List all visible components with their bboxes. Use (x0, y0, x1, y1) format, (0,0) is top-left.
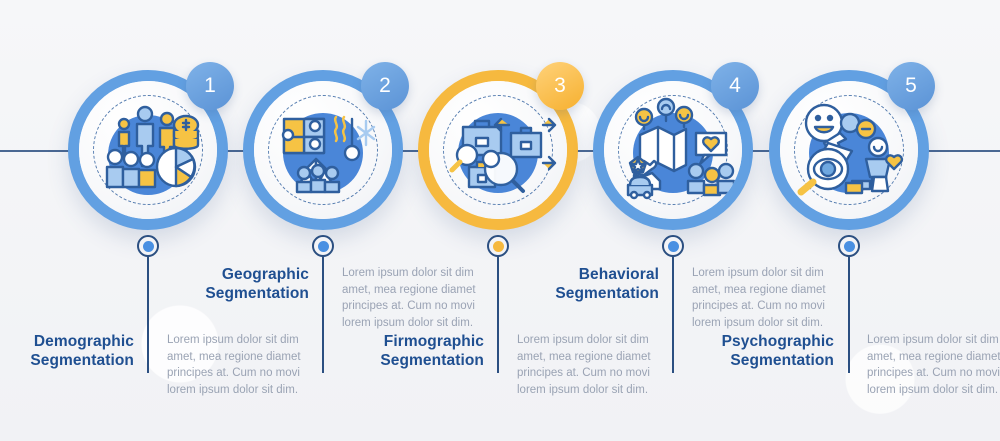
step-title-4-line1: Behavioral (525, 265, 659, 284)
step-title-4-line2: Segmentation (525, 284, 659, 303)
step-title-2-line2: Segmentation (175, 284, 309, 303)
step-node-2[interactable]: 2 (243, 70, 403, 230)
step-badge-2: 2 (361, 62, 409, 110)
step-body-3: Lorem ipsum dolor sit dim amet, mea regi… (502, 332, 680, 398)
step-body-2: Lorem ipsum dolor sit dim amet, mea regi… (327, 265, 505, 331)
step-text-5: Psychographic Segmentation Lorem ipsum d… (700, 332, 1000, 398)
step-node-1[interactable]: 1 (68, 70, 228, 230)
infographic-canvas: 1 Demographic Segmentation Lorem ipsum d… (0, 0, 1000, 441)
step-dot-1[interactable] (137, 235, 159, 257)
step-badge-4: 4 (711, 62, 759, 110)
step-title-3-line2: Segmentation (350, 351, 484, 370)
step-title-5-line2: Segmentation (700, 351, 834, 370)
step-title-5-line1: Psychographic (700, 332, 834, 351)
step-node-3[interactable]: 3 (418, 70, 578, 230)
step-dot-4[interactable] (662, 235, 684, 257)
step-title-1: Demographic Segmentation (0, 332, 150, 370)
step-title-3: Firmographic Segmentation (350, 332, 500, 370)
step-badge-1: 1 (186, 62, 234, 110)
step-node-5[interactable]: 5 (769, 70, 929, 230)
step-title-2: Geographic Segmentation (175, 265, 325, 303)
step-title-3-line1: Firmographic (350, 332, 484, 351)
step-badge-5: 5 (887, 62, 935, 110)
step-title-4: Behavioral Segmentation (525, 265, 675, 303)
step-dot-2[interactable] (312, 235, 334, 257)
step-title-5: Psychographic Segmentation (700, 332, 850, 370)
step-dot-5[interactable] (838, 235, 860, 257)
step-body-5: Lorem ipsum dolor sit dim amet, mea regi… (852, 332, 1000, 398)
step-body-4: Lorem ipsum dolor sit dim amet, mea regi… (677, 265, 855, 331)
step-badge-3: 3 (536, 62, 584, 110)
step-dot-3[interactable] (487, 235, 509, 257)
step-node-4[interactable]: 4 (593, 70, 753, 230)
step-title-2-line1: Geographic (175, 265, 309, 284)
step-body-1: Lorem ipsum dolor sit dim amet, mea regi… (152, 332, 330, 398)
step-text-4: Behavioral Segmentation Lorem ipsum dolo… (525, 265, 855, 331)
step-title-1-line2: Segmentation (0, 351, 134, 370)
step-title-1-line1: Demographic (0, 332, 134, 351)
step-text-2: Geographic Segmentation Lorem ipsum dolo… (175, 265, 505, 331)
step-text-1: Demographic Segmentation Lorem ipsum dol… (0, 332, 330, 398)
step-text-3: Firmographic Segmentation Lorem ipsum do… (350, 332, 680, 398)
